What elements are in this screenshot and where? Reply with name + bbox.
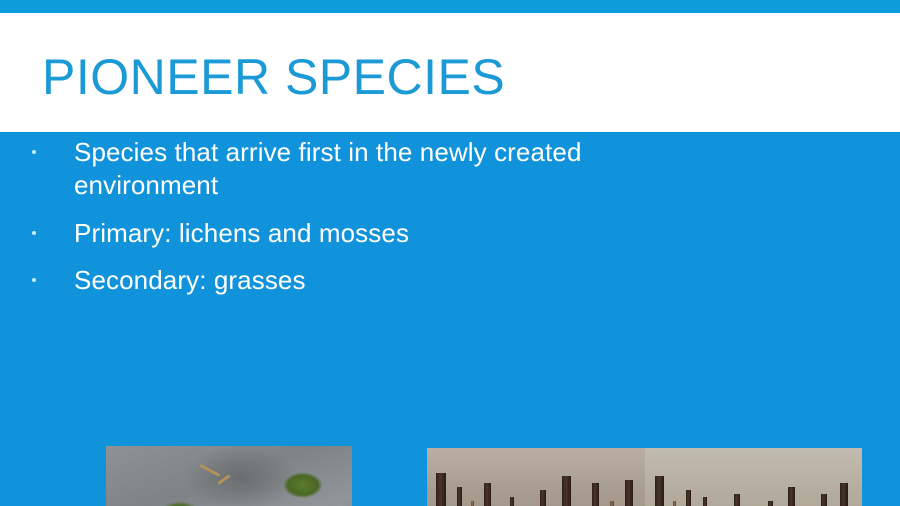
- bullet-dot-icon: [32, 231, 36, 235]
- burned-forest-grass-regrowth-panel: [645, 448, 863, 506]
- title-band: PIONEER SPECIES: [0, 13, 900, 132]
- bullet-dot-icon: [32, 150, 36, 154]
- tree-trunk: [471, 501, 474, 506]
- tree-trunk: [703, 497, 707, 506]
- tree-trunk: [673, 501, 676, 506]
- tree-trunk: [625, 480, 633, 506]
- tree-trunk: [457, 487, 462, 506]
- top-accent-bar: [0, 0, 900, 13]
- presentation-slide: PIONEER SPECIES Species that arrive firs…: [0, 0, 900, 506]
- moss-and-lichen-on-rock-image: [106, 446, 352, 506]
- list-item: Secondary: grasses: [22, 264, 722, 297]
- page-title: PIONEER SPECIES: [42, 49, 505, 107]
- bullet-text: Species that arrive first in the newly c…: [74, 136, 722, 203]
- tree-trunk: [686, 490, 691, 506]
- tree-trunk: [655, 476, 664, 506]
- tree-trunk: [436, 473, 446, 506]
- bullet-text: Secondary: grasses: [74, 264, 722, 297]
- tree-trunk: [540, 490, 546, 506]
- tree-trunk: [840, 483, 848, 506]
- bullet-list: Species that arrive first in the newly c…: [22, 136, 722, 311]
- list-item: Species that arrive first in the newly c…: [22, 136, 722, 203]
- tree-trunk: [562, 476, 571, 506]
- bullet-dot-icon: [32, 278, 36, 282]
- tree-trunk: [592, 483, 599, 506]
- tree-trunk: [610, 501, 614, 506]
- tree-trunk: [788, 487, 795, 506]
- tree-trunk: [821, 494, 827, 506]
- burned-forest-succession-image: [427, 448, 862, 506]
- slide-body: Species that arrive first in the newly c…: [0, 132, 900, 506]
- burned-forest-bare-ground-panel: [427, 448, 645, 506]
- list-item: Primary: lichens and mosses: [22, 217, 722, 250]
- twig-detail: [200, 464, 221, 477]
- tree-trunk: [734, 494, 740, 506]
- tree-trunk: [510, 497, 514, 506]
- bullet-text: Primary: lichens and mosses: [74, 217, 722, 250]
- tree-trunk: [768, 501, 773, 506]
- tree-trunk: [484, 483, 491, 506]
- forest-canopy-background: [645, 448, 863, 506]
